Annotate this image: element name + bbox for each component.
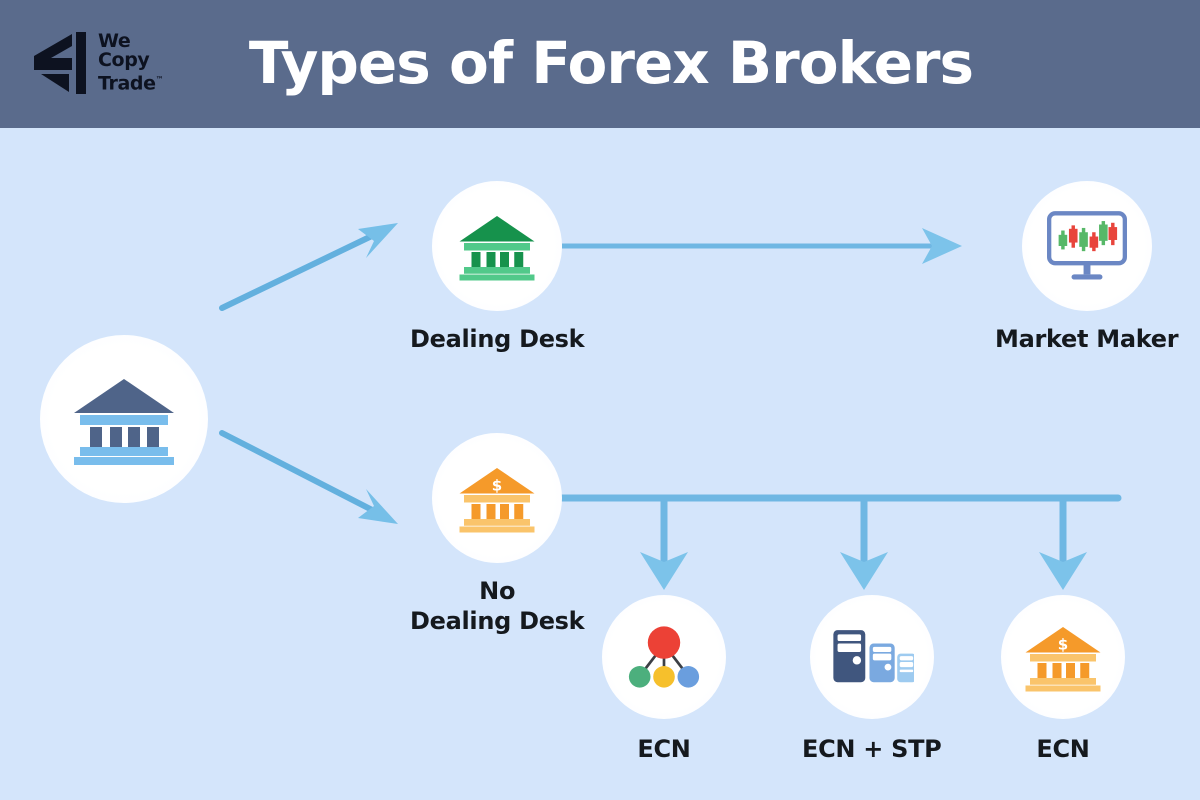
connector-dealing-desk-to-market-maker bbox=[562, 228, 962, 264]
svg-text:$: $ bbox=[492, 477, 502, 495]
node-broker-bubble bbox=[40, 335, 208, 503]
node-dealing-desk-bubble bbox=[432, 181, 562, 311]
node-ecn-stp-label: ECN + STP bbox=[802, 735, 941, 763]
infographic-canvas: We Copy Trade™ Types of Forex Brokers bbox=[0, 0, 1200, 800]
bank-building-dollar-orange-icon: $ bbox=[1022, 621, 1104, 693]
svg-text:$: $ bbox=[1058, 636, 1068, 654]
node-no-dealing-desk[interactable]: $ No Dealing Desk bbox=[410, 433, 584, 636]
node-broker[interactable] bbox=[40, 335, 208, 503]
header-bar: We Copy Trade™ Types of Forex Brokers bbox=[0, 0, 1200, 128]
bank-building-green-icon bbox=[456, 210, 538, 282]
node-dealing-desk-label: Dealing Desk bbox=[410, 325, 584, 353]
network-nodes-icon bbox=[626, 621, 702, 693]
connector-broker-to-dealing-desk bbox=[222, 223, 398, 308]
bank-building-icon bbox=[70, 371, 178, 467]
node-market-maker[interactable]: Market Maker bbox=[995, 181, 1178, 353]
node-ecn-left[interactable]: ECN bbox=[602, 595, 726, 763]
node-market-maker-label: Market Maker bbox=[995, 325, 1178, 353]
page-title: Types of Forex Brokers bbox=[0, 18, 1200, 108]
node-ecn-right-label: ECN bbox=[1036, 735, 1089, 763]
candlestick-monitor-icon bbox=[1044, 208, 1130, 284]
connector-no-dealing-desk-bus bbox=[558, 498, 1118, 590]
node-ecn-stp-bubble bbox=[810, 595, 934, 719]
bank-building-dollar-orange-icon: $ bbox=[456, 462, 538, 534]
node-ecn-left-bubble bbox=[602, 595, 726, 719]
node-ecn-stp[interactable]: ECN + STP bbox=[802, 595, 941, 763]
node-no-dealing-desk-label: No Dealing Desk bbox=[410, 576, 584, 636]
node-market-maker-bubble bbox=[1022, 181, 1152, 311]
node-ecn-right[interactable]: $ ECN bbox=[1001, 595, 1125, 763]
node-dealing-desk[interactable]: Dealing Desk bbox=[410, 181, 584, 353]
node-no-dealing-desk-bubble: $ bbox=[432, 433, 562, 563]
connector-broker-to-no-dealing-desk bbox=[222, 433, 398, 524]
node-ecn-left-label: ECN bbox=[637, 735, 690, 763]
diagram-area: Dealing Desk bbox=[0, 128, 1200, 800]
node-ecn-right-bubble: $ bbox=[1001, 595, 1125, 719]
server-towers-icon bbox=[830, 623, 914, 691]
